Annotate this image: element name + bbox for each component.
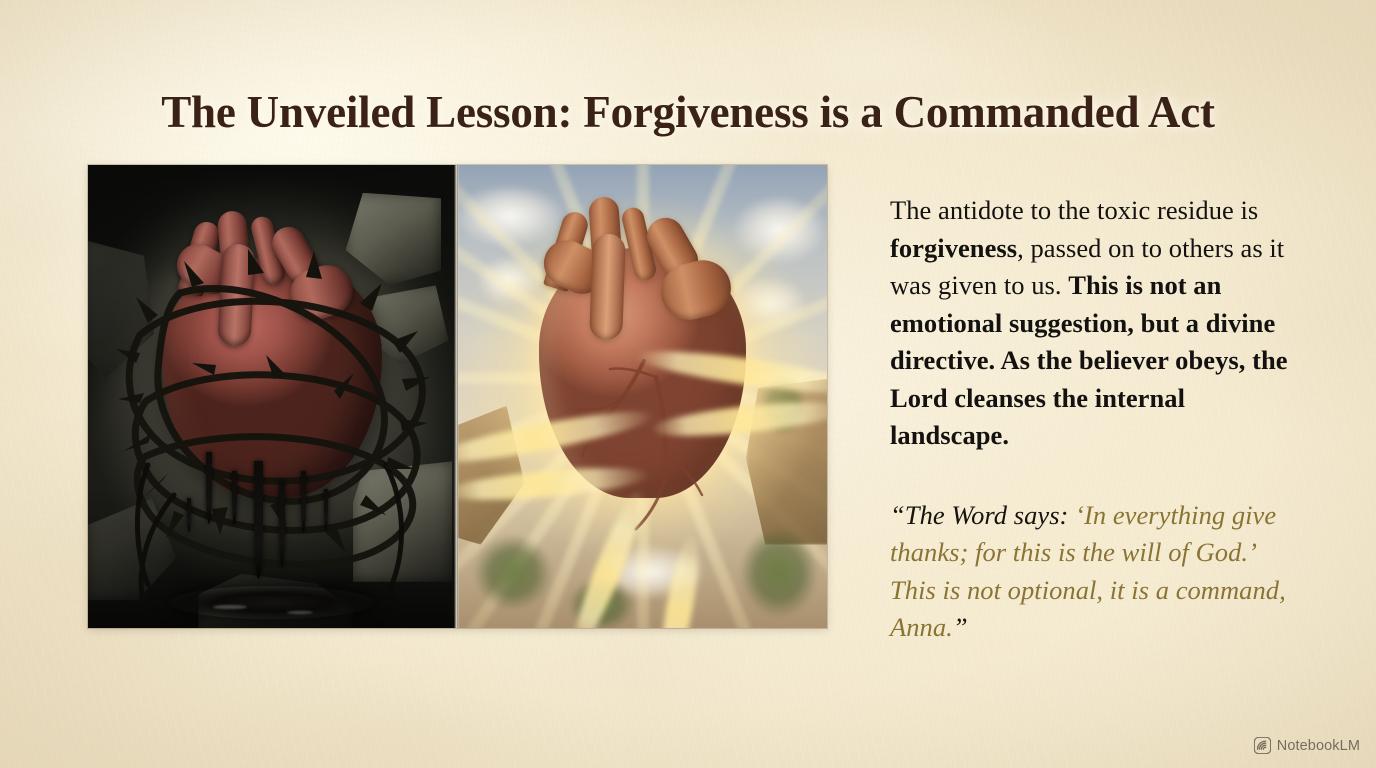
notebooklm-icon (1254, 737, 1271, 754)
body-paragraph: The antidote to the toxic residue is for… (890, 192, 1290, 455)
notebooklm-watermark: NotebookLM (1254, 737, 1360, 754)
quote-open-mark: “ (890, 500, 905, 530)
artwork-panel-radiant-heart (458, 165, 827, 628)
text-column: The antidote to the toxic residue is for… (890, 192, 1290, 647)
diptych-seam (454, 165, 459, 628)
thorn-vine-overlay (88, 165, 456, 628)
slide-canvas: The Unveiled Lesson: Forgiveness is a Co… (0, 0, 1376, 768)
artwork-panel-bound-heart (88, 165, 456, 628)
tar-puddle (169, 586, 375, 618)
pull-quote: “The Word says: ‘In everything give than… (890, 455, 1290, 647)
body-segment-bold-forgiveness: forgiveness (890, 233, 1017, 263)
tar-drip (206, 452, 212, 524)
tar-drip (232, 471, 237, 525)
tar-drip (324, 489, 328, 531)
quote-close-mark: ” (953, 612, 968, 642)
artwork-diptych (88, 165, 827, 628)
body-segment-plain-1: The antidote to the toxic residue is (890, 195, 1258, 225)
page-title: The Unveiled Lesson: Forgiveness is a Co… (0, 86, 1376, 138)
coronary-artery-overlay (458, 165, 827, 628)
notebooklm-label: NotebookLM (1277, 738, 1360, 754)
quote-lead-in: The Word says: (905, 500, 1069, 530)
tar-drip (254, 461, 263, 579)
